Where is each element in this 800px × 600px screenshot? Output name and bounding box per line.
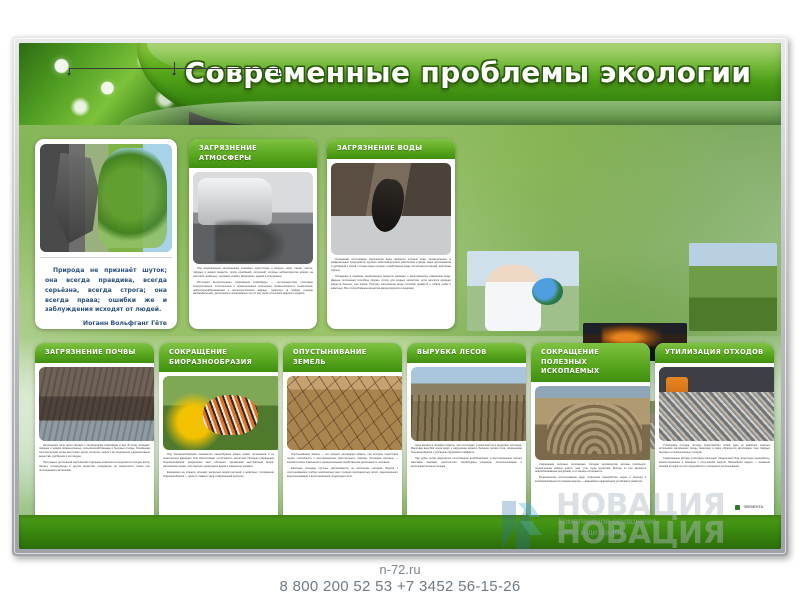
paragraph: Ежегодно площадь пустынь увеличивается н… — [287, 467, 398, 479]
paragraph: Леса являются лёгкими планеты: они погло… — [411, 444, 522, 456]
paragraph: Утилизация отходов. Отходы представляют … — [659, 444, 770, 456]
card-air-pollution-title: ЗАГРЯЗНЕНИЕ АТМОСФЕРЫ — [189, 139, 317, 168]
paragraph: Загрязнение почв тесно связано с загрязн… — [39, 444, 150, 460]
card-waste-disposal-photo — [659, 367, 774, 441]
paragraph: Попадание в водоёмы загрязняющих веществ… — [331, 275, 451, 291]
card-biodiversity-loss-photo — [163, 376, 278, 450]
arrow-icon — [277, 73, 281, 76]
scheme-photo-collage — [467, 243, 777, 331]
manufacturer-mark-icon — [735, 505, 740, 510]
card-deforestation-title: ВЫРУБКА ЛЕСОВ — [407, 343, 526, 363]
card-desertification-photo — [287, 376, 402, 450]
manufacturer-logo-text: ЭЛЕМЕНТА — [743, 505, 763, 509]
paragraph: Опустынивание земель — это процесс дегра… — [287, 453, 398, 465]
paragraph: Основными источниками загрязнения воды я… — [331, 258, 451, 274]
paragraph: Под биоразнообразием понимается разнообр… — [163, 453, 274, 469]
collage-child-with-globe — [467, 251, 579, 331]
card-desertification-text: Опустынивание земель — это процесс дегра… — [283, 450, 402, 482]
card-soil-pollution-photo — [39, 367, 154, 441]
card-mineral-depletion-title: СОКРАЩЕНИЕ ПОЛЕЗНЫХ ИСКОПАЕМЫХ — [531, 343, 650, 382]
card-deforestation-text: Леса являются лёгкими планеты: они погло… — [407, 441, 526, 473]
arrow-icon — [67, 73, 71, 76]
card-air-pollution-photo — [193, 172, 313, 264]
card-water-pollution-photo — [331, 163, 451, 255]
paragraph: Современные методы утилизации включают р… — [659, 457, 770, 469]
paragraph: Под атмосферным загрязнением понимают пр… — [193, 267, 313, 279]
arrow-icon — [172, 73, 176, 76]
card-air-pollution-text: Под атмосферным загрязнением понимают пр… — [189, 264, 317, 300]
watermark-website[interactable]: n-72.ru — [0, 562, 800, 577]
watermark-phone[interactable]: 8 800 200 52 53 +7 3452 56-15-26 — [0, 578, 800, 595]
scheme-connectors — [19, 62, 329, 74]
card-biodiversity-loss-text: Под биоразнообразием понимается разнообр… — [159, 450, 278, 482]
header-wave-divider — [119, 101, 781, 125]
card-mineral-depletion-photo — [535, 386, 650, 460]
paragraph: При рубке лесов нарушается естественное … — [411, 457, 522, 469]
card-desertification: ОПУСТЫНИВАНИЕ ЗЕМЕЛЬ Опустынивание земел… — [283, 343, 402, 533]
quote-photo — [40, 144, 172, 252]
card-soil-pollution: ЗАГРЯЗНЕНИЕ ПОЧВЫ Загрязнение почв тесно… — [35, 343, 154, 533]
card-air-pollution: ЗАГРЯЗНЕНИЕ АТМОСФЕРЫ Под атмосферным за… — [189, 139, 317, 329]
quote-card: Природа не признаёт шуток; она всегда пр… — [35, 139, 177, 329]
quote-text: Природа не признаёт шуток; она всегда пр… — [45, 266, 167, 315]
screenshot-root: Современные проблемы экологии Современны… — [0, 0, 800, 600]
paragraph: Ежедневно на планете исчезает несколько … — [163, 471, 274, 479]
paragraph: Источники антропогенного загрязнения атм… — [193, 281, 313, 297]
poster-bottom-band — [19, 515, 781, 549]
quote-box: Природа не признаёт шуток; она всегда пр… — [40, 257, 172, 329]
poster-surface: Современные проблемы экологии Современны… — [19, 43, 781, 549]
card-desertification-title: ОПУСТЫНИВАНИЕ ЗЕМЕЛЬ — [283, 343, 402, 372]
paragraph: При разных длительной загрязнений отдель… — [39, 461, 150, 473]
quote-author: Иоганн Вольфганг Гёте — [45, 320, 167, 327]
card-soil-pollution-title: ЗАГРЯЗНЕНИЕ ПОЧВЫ — [35, 343, 154, 363]
card-water-pollution-title: ЗАГРЯЗНЕНИЕ ВОДЫ — [327, 139, 455, 159]
card-water-pollution: ЗАГРЯЗНЕНИЕ ВОДЫ Основными источниками з… — [327, 139, 455, 329]
card-mineral-depletion-text: Сокращение полезных ископаемых. Сегодня … — [531, 460, 650, 488]
paragraph: Рациональное использование недр, вторичн… — [535, 476, 646, 484]
card-biodiversity-loss-title: СОКРАЩЕНИЕ БИОРАЗНООБРАЗИЯ — [159, 343, 278, 372]
collage-green-forest — [689, 243, 777, 331]
card-mineral-depletion: СОКРАЩЕНИЕ ПОЛЕЗНЫХ ИСКОПАЕМЫХ Сокращени… — [531, 343, 650, 533]
card-deforestation: ВЫРУБКА ЛЕСОВ Леса являются лёгкими план… — [407, 343, 526, 533]
poster-frame: Современные проблемы экологии Современны… — [12, 36, 788, 556]
card-waste-disposal-title: УТИЛИЗАЦИЯ ОТХОДОВ — [655, 343, 774, 363]
card-soil-pollution-text: Загрязнение почв тесно связано с загрязн… — [35, 441, 154, 477]
card-deforestation-photo — [411, 367, 526, 441]
paragraph: Сокращение полезных ископаемых. Сегодня … — [535, 463, 646, 475]
card-waste-disposal-text: Утилизация отходов. Отходы представляют … — [655, 441, 774, 473]
manufacturer-logo: ЭЛЕМЕНТА — [731, 503, 767, 511]
poster-header: Современные проблемы экологии Современны… — [19, 43, 781, 125]
card-biodiversity-loss: СОКРАЩЕНИЕ БИОРАЗНООБРАЗИЯ Под биоразноо… — [159, 343, 278, 533]
card-water-pollution-text: Основными источниками загрязнения воды я… — [327, 255, 455, 295]
